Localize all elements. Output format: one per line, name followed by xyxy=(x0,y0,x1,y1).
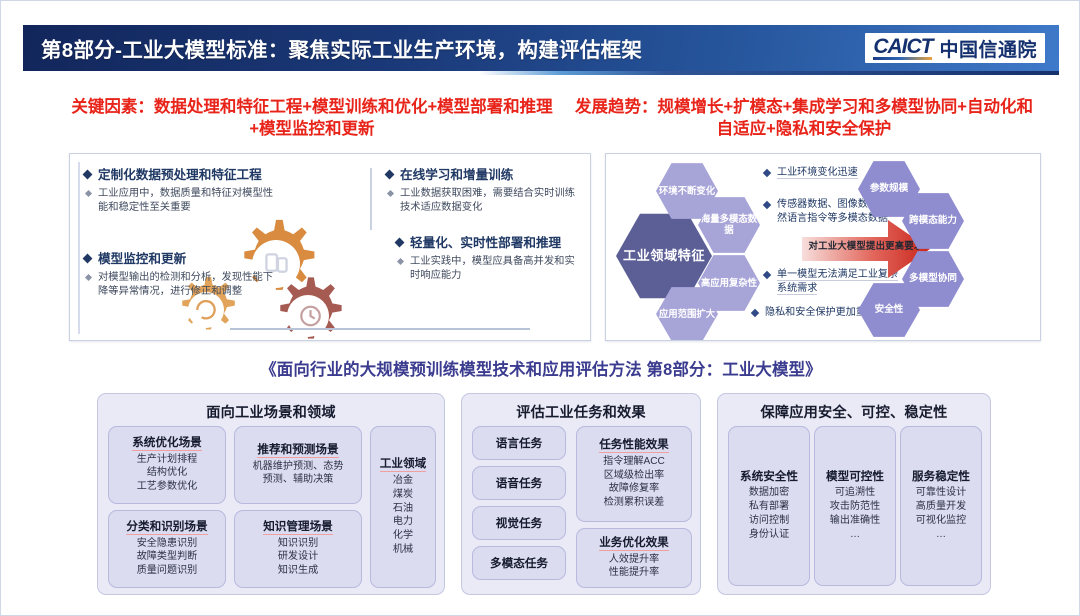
card-task-performance-line-1: 区域级检出率 xyxy=(604,469,665,483)
card-service-stability-line-0: 可靠性设计 xyxy=(916,486,966,500)
bottom-group-industrial-scenes: 面向工业场景和领域 系统优化场景 生产计划排程 结构优化 工艺参数优化 推荐和预… xyxy=(97,393,445,595)
card-service-stability-line-3: … xyxy=(936,528,946,542)
card-system-optimization-line-1: 结构优化 xyxy=(147,466,187,480)
hex-crossmodal-capability-label: 跨模态能力 xyxy=(909,215,957,226)
card-service-stability-line-2: 可视化监控 xyxy=(916,514,966,528)
standard-title: 《面向行业的大规模预训练模型技术和应用评估方法 第8部分：工业大模型》 xyxy=(91,356,991,380)
card-recommend-predict: 推荐和预测场景 机器维护预测、态势 预测、辅助决策 xyxy=(234,426,362,504)
card-system-security-line-3: 身份认证 xyxy=(749,528,789,542)
card-model-controllability-heading: 模型可控性 xyxy=(826,470,884,484)
left-block-2-body: 工业数据获取困难，需要结合实时训练技术适应数据变化 xyxy=(386,187,578,216)
logo-en-text: CAICT xyxy=(873,37,932,57)
card-knowledge-mgmt-line-2: 知识生成 xyxy=(278,564,318,578)
card-knowledge-mgmt-line-1: 研发设计 xyxy=(278,550,318,564)
card-system-optimization-line-2: 工艺参数优化 xyxy=(137,480,198,494)
card-knowledge-mgmt-heading: 知识管理场景 xyxy=(263,520,333,535)
card-classify-recognize-line-0: 安全隐患识别 xyxy=(137,537,198,551)
card-model-controllability-line-1: 攻击防范性 xyxy=(830,500,880,514)
card-industry-domains-line-2: 石油 xyxy=(393,502,413,516)
card-recommend-predict-heading: 推荐和预测场景 xyxy=(257,443,338,458)
chip-multimodal-task: 多模态任务 xyxy=(472,546,566,580)
bottom-group-task-evaluation: 评估工业任务和效果 语言任务 语音任务 视觉任务 多模态任务 任务性能效果 指令… xyxy=(461,393,701,595)
left-block-0: 定制化数据预处理和特征工程 工业应用中，数据质量和特征对模型性能和稳定性至关重要 xyxy=(84,168,280,216)
card-system-security-line-1: 私有部署 xyxy=(749,500,789,514)
chip-vision-task-label: 视觉任务 xyxy=(496,515,542,531)
hex-core-label: 工业领域特征 xyxy=(623,248,705,263)
left-block-1: 模型监控和更新 对模型输出的检测和分析，发现性能下降等异常情况，进行修正和调整 xyxy=(84,252,280,300)
bottom-group-2-title: 保障应用安全、可控、稳定性 xyxy=(718,402,990,422)
chip-speech-task: 语音任务 xyxy=(472,466,566,500)
hex-security-label: 安全性 xyxy=(875,304,904,315)
card-model-controllability: 模型可控性 可追溯性 攻击防范性 输出准确性 … xyxy=(814,426,896,586)
chip-speech-task-label: 语音任务 xyxy=(496,475,542,491)
panel-left-inner-rule-h xyxy=(230,328,530,330)
bottom-group-1-title: 评估工业任务和效果 xyxy=(462,402,700,422)
card-industry-domains-line-5: 机械 xyxy=(393,543,413,557)
card-system-security-line-0: 数据加密 xyxy=(749,486,789,500)
bottom-group-safety-control: 保障应用安全、可控、稳定性 系统安全性 数据加密 私有部署 访问控制 身份认证 … xyxy=(717,393,991,595)
hex-multimodel-collab-label: 多模型协同 xyxy=(909,273,957,284)
card-service-stability-line-1: 高质量开发 xyxy=(916,500,966,514)
panel-left-divider xyxy=(78,162,80,334)
card-service-stability: 服务稳定性 可靠性设计 高质量开发 可视化监控 … xyxy=(900,426,982,586)
chip-language-task: 语言任务 xyxy=(472,426,566,460)
trends-panel: 工业领域特征 环境不断变化 海量多模态数据 高应用复杂性 应用范围扩大 工业环境… xyxy=(605,153,1041,341)
trend-bullet-0-text: 工业环境变化迅速 xyxy=(777,167,858,179)
card-task-performance-line-2: 故障修复率 xyxy=(609,482,659,496)
card-service-stability-heading: 服务稳定性 xyxy=(912,470,970,484)
chip-language-task-label: 语言任务 xyxy=(496,435,542,451)
logo-underline xyxy=(873,57,932,60)
card-task-performance: 任务性能效果 指令理解ACC 区域级检出率 故障修复率 检测累积误差 xyxy=(576,426,692,522)
left-block-3: 轻量化、实时性部署和推理 工业实践中，模型应具备高并发和实时响应能力 xyxy=(396,236,582,284)
card-task-performance-line-0: 指令理解ACC xyxy=(603,455,665,469)
card-system-optimization-line-0: 生产计划排程 xyxy=(137,453,198,467)
card-knowledge-mgmt: 知识管理场景 知识识别 研发设计 知识生成 xyxy=(234,510,362,588)
card-model-controllability-line-3: … xyxy=(850,528,860,542)
card-industry-domains-heading: 工业领域 xyxy=(380,457,426,472)
page-title: 第8部分-工业大模型标准：聚焦实际工业生产环境，构建评估框架 xyxy=(41,33,642,63)
left-block-1-body: 对模型输出的检测和分析，发现性能下降等异常情况，进行修正和调整 xyxy=(84,271,280,300)
hex-app-complexity-label: 高应用复杂性 xyxy=(701,278,757,289)
key-factors-panel: 定制化数据预处理和特征工程 工业应用中，数据质量和特征对模型性能和稳定性至关重要… xyxy=(69,153,591,341)
card-industry-domains-line-4: 化学 xyxy=(393,529,413,543)
slide-canvas: 第8部分-工业大模型标准：聚焦实际工业生产环境，构建评估框架 CAICT 中国信… xyxy=(0,0,1080,616)
arrow-label: 对工业大模型提出更高要求 xyxy=(802,238,930,252)
left-block-3-body: 工业实践中，模型应具备高并发和实时响应能力 xyxy=(396,255,582,284)
card-classify-recognize: 分类和识别场景 安全隐患识别 故障类型判断 质量问题识别 xyxy=(108,510,226,588)
card-recommend-predict-line-0: 机器维护预测、态势 xyxy=(253,460,344,474)
card-industry-domains: 工业领域 冶金 煤炭 石油 电力 化学 机械 xyxy=(370,426,436,588)
panel-left-inner-rule-v xyxy=(370,168,372,230)
chip-multimodal-task-label: 多模态任务 xyxy=(490,555,548,571)
slide-header: 第8部分-工业大模型标准：聚焦实际工业生产环境，构建评估框架 CAICT 中国信… xyxy=(23,25,1059,71)
card-system-optimization-heading: 系统优化场景 xyxy=(132,436,202,451)
card-industry-domains-line-1: 煤炭 xyxy=(393,488,413,502)
card-system-security-line-2: 访问控制 xyxy=(749,514,789,528)
header-accent-bar xyxy=(23,71,1059,75)
card-model-controllability-line-2: 输出准确性 xyxy=(830,514,880,528)
logo-cn-text: 中国信通院 xyxy=(939,41,1037,60)
card-classify-recognize-heading: 分类和识别场景 xyxy=(126,520,207,535)
card-classify-recognize-line-2: 质量问题识别 xyxy=(137,564,198,578)
chip-vision-task: 视觉任务 xyxy=(472,506,566,540)
card-business-optimization-line-0: 人效提升率 xyxy=(609,553,659,567)
logo-mark: CAICT xyxy=(873,37,932,61)
card-system-security-heading: 系统安全性 xyxy=(740,470,798,484)
hex-env-change-label: 环境不断变化 xyxy=(659,186,715,197)
card-business-optimization: 业务优化效果 人效提升率 性能提升率 xyxy=(576,528,692,588)
card-business-optimization-line-1: 性能提升率 xyxy=(609,566,659,580)
card-knowledge-mgmt-line-0: 知识识别 xyxy=(278,537,318,551)
hex-multimodal-data-label: 海量多模态数据 xyxy=(698,214,760,236)
card-task-performance-line-3: 检测累积误差 xyxy=(604,496,665,510)
trends-heading: 发展趋势：规模增长+扩模态+集成学习和多模型协同+自动化和自适应+隐私和安全保护 xyxy=(567,97,1041,141)
left-block-0-body: 工业应用中，数据质量和特征对模型性能和稳定性至关重要 xyxy=(84,187,280,216)
card-system-optimization: 系统优化场景 生产计划排程 结构优化 工艺参数优化 xyxy=(108,426,226,504)
card-recommend-predict-line-1: 预测、辅助决策 xyxy=(263,473,334,487)
left-block-0-heading: 定制化数据预处理和特征工程 xyxy=(84,168,280,184)
bottom-group-0-title: 面向工业场景和领域 xyxy=(98,402,444,422)
key-factors-heading: 关键因素：数据处理和特征工程+模型训练和优化+模型部署和推理+模型监控和更新 xyxy=(63,97,561,141)
card-task-performance-heading: 任务性能效果 xyxy=(599,438,669,453)
hex-parameter-scale-label: 参数规模 xyxy=(870,183,908,194)
card-industry-domains-line-0: 冶金 xyxy=(393,474,413,488)
card-classify-recognize-line-1: 故障类型判断 xyxy=(137,550,198,564)
card-business-optimization-heading: 业务优化效果 xyxy=(599,536,669,551)
card-system-security: 系统安全性 数据加密 私有部署 访问控制 身份认证 xyxy=(728,426,810,586)
hex-app-scope-label: 应用范围扩大 xyxy=(659,309,715,320)
card-industry-domains-line-3: 电力 xyxy=(393,515,413,529)
left-block-3-heading: 轻量化、实时性部署和推理 xyxy=(396,236,582,252)
card-model-controllability-line-0: 可追溯性 xyxy=(835,486,875,500)
left-block-2: 在线学习和增量训练 工业数据获取困难，需要结合实时训练技术适应数据变化 xyxy=(386,168,578,216)
caict-logo: CAICT 中国信通院 xyxy=(865,33,1045,64)
hex-core-industry-features: 工业领域特征 xyxy=(616,212,712,300)
left-block-1-heading: 模型监控和更新 xyxy=(84,252,280,268)
left-block-2-heading: 在线学习和增量训练 xyxy=(386,168,578,184)
